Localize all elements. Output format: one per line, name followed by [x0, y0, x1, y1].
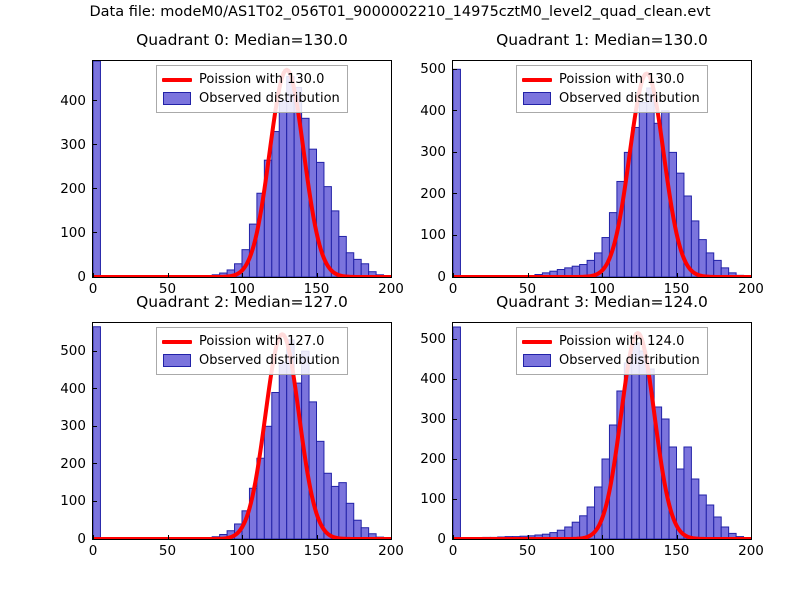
subplot-quadrant-3: Quadrant 3: Median=124.00100200300400500…	[0, 0, 800, 600]
x-tick-label: 50	[519, 543, 536, 559]
legend-label: Observed distribution	[559, 354, 700, 367]
y-tick-label: 400	[396, 371, 446, 387]
x-tick-label: 200	[738, 543, 764, 559]
x-tickmark	[751, 535, 752, 539]
x-tick-label: 0	[449, 543, 458, 559]
x-tickmark	[602, 535, 603, 539]
legend-quadrant-3: Poission with 124.0Observed distribution	[516, 327, 708, 375]
legend-entry: Poission with 124.0	[522, 332, 701, 351]
y-tick-label: 200	[396, 451, 446, 467]
legend-label: Poission with 124.0	[559, 335, 684, 348]
y-tickmark	[453, 339, 457, 340]
y-tickmark	[453, 499, 457, 500]
x-tickmark	[453, 535, 454, 539]
y-tick-label: 300	[396, 411, 446, 427]
figure-canvas: Data file: modeM0/AS1T02_056T01_90000022…	[0, 0, 800, 600]
legend-entry: Observed distribution	[522, 351, 701, 370]
y-tickmark	[453, 419, 457, 420]
y-tickmark	[453, 459, 457, 460]
x-tickmark	[528, 535, 529, 539]
x-tick-label: 100	[589, 543, 615, 559]
y-tick-label: 100	[396, 491, 446, 507]
y-tickmark	[453, 379, 457, 380]
legend-patch-swatch	[522, 354, 552, 368]
y-tick-label: 0	[396, 531, 446, 547]
x-tick-label: 150	[664, 543, 690, 559]
subplot-title-quadrant-3: Quadrant 3: Median=124.0	[452, 293, 752, 311]
x-tickmark	[677, 535, 678, 539]
y-tick-label: 500	[396, 331, 446, 347]
legend-line-swatch	[522, 335, 552, 349]
